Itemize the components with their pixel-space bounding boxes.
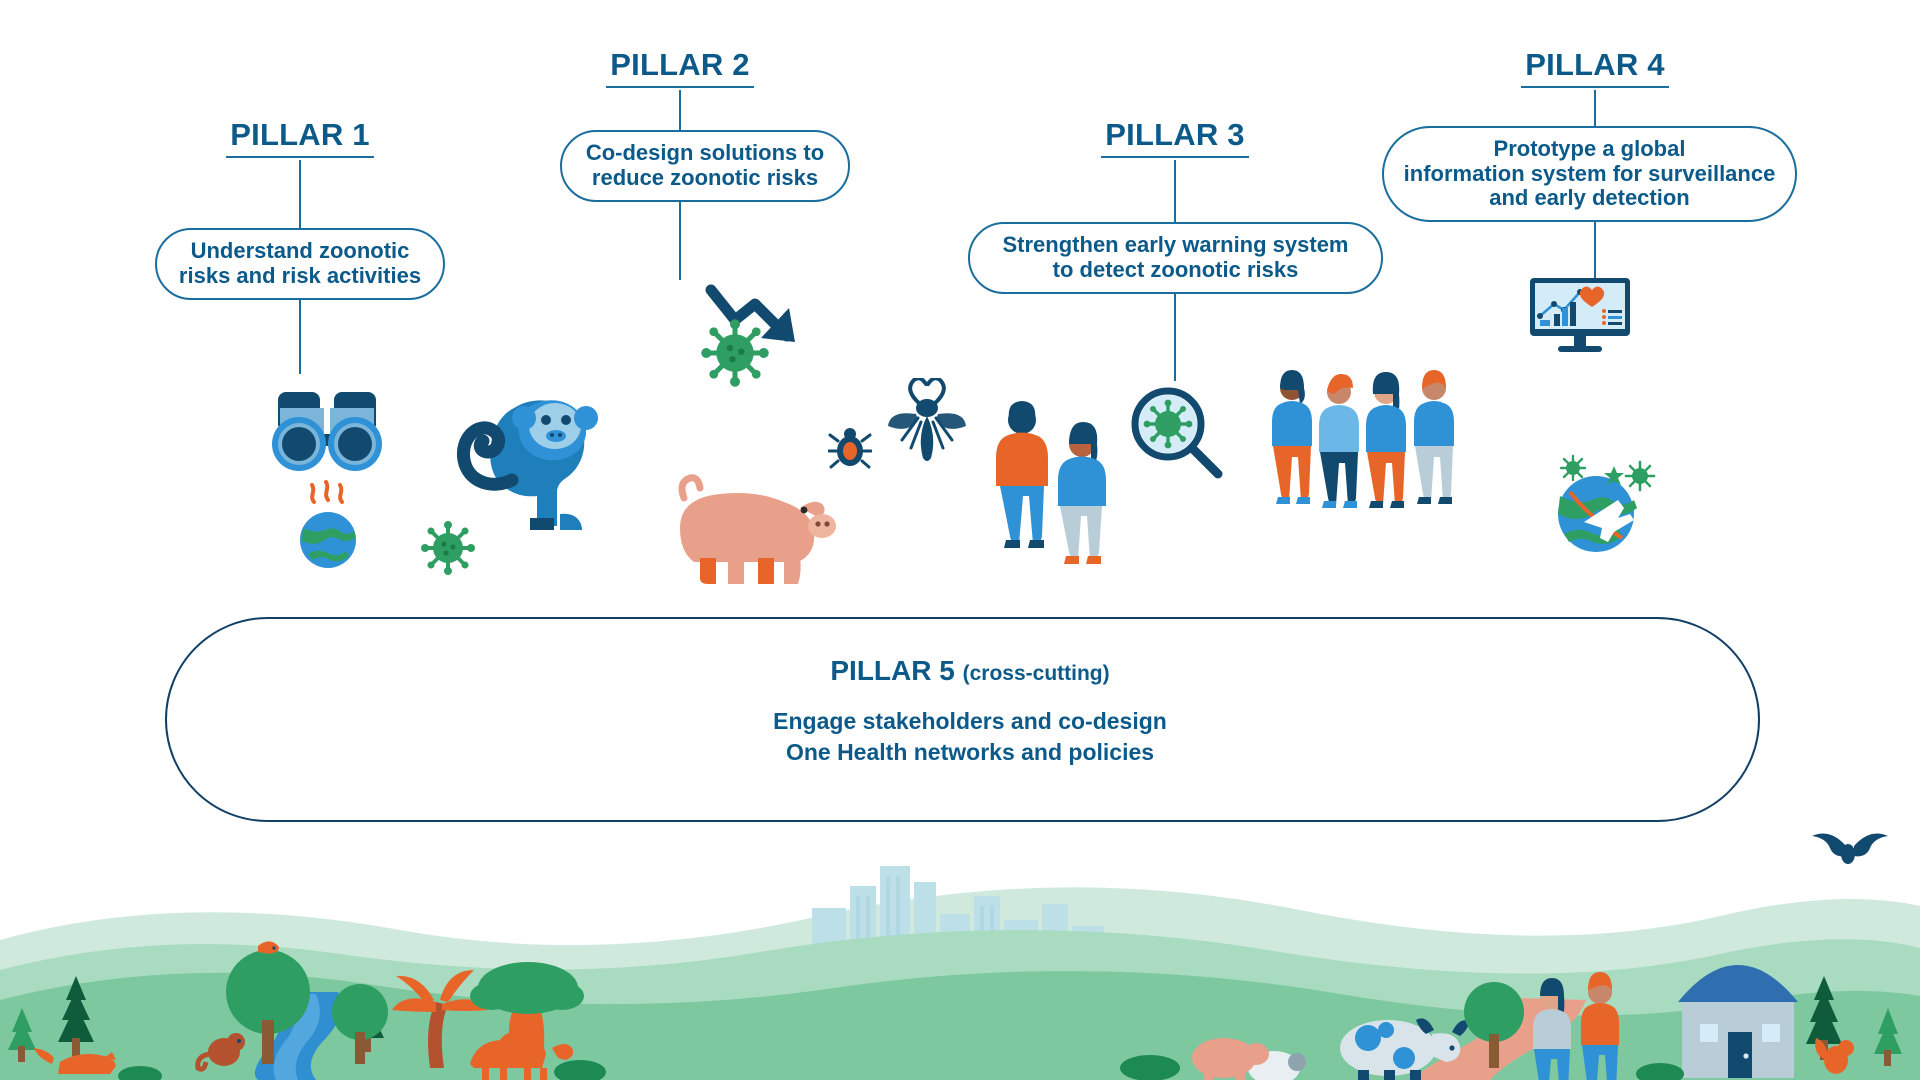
magnifier-virus-icon bbox=[1126, 384, 1224, 482]
pillar-1-heading-label: PILLAR 1 bbox=[185, 118, 415, 152]
pillar-4-heading: PILLAR 4 bbox=[1480, 48, 1710, 88]
pillar-2-box-label: Co-design solutions to reduce zoonotic r… bbox=[568, 141, 842, 190]
pillar-4-box[interactable]: Prototype a global information system fo… bbox=[1382, 126, 1797, 222]
people-group-icon bbox=[1268, 370, 1458, 540]
virus-icon bbox=[700, 318, 770, 388]
pillar-1-connector-top bbox=[299, 160, 301, 235]
pillar-2-connector-bottom bbox=[679, 201, 681, 280]
pillar-2-heading-rule bbox=[606, 86, 754, 88]
one-health-landscape bbox=[0, 820, 1920, 1080]
pillar-1-box-label: Understand zoonotic risks and risk activ… bbox=[161, 239, 439, 288]
pillar-2-box[interactable]: Co-design solutions to reduce zoonotic r… bbox=[560, 130, 850, 202]
pillar-5-text-block: PILLAR 5 (cross-cutting) Engage stakehol… bbox=[760, 655, 1180, 768]
globe-travel-icon bbox=[1540, 452, 1660, 562]
pillar-1-connector-bottom bbox=[299, 299, 301, 374]
hot-globe-icon bbox=[288, 480, 370, 572]
pillar-1-heading: PILLAR 1 bbox=[185, 118, 415, 158]
tick-icon bbox=[828, 425, 872, 471]
pillar-5-heading-suffix: (cross-cutting) bbox=[963, 662, 1110, 685]
pillar-4-connector-top bbox=[1594, 90, 1596, 130]
pillar-4-box-label: Prototype a global information system fo… bbox=[1386, 137, 1794, 211]
pillar-4-heading-rule bbox=[1521, 86, 1669, 88]
pillar-5-heading-label: PILLAR 5 bbox=[830, 655, 954, 686]
pillar-3-heading-label: PILLAR 3 bbox=[1060, 118, 1290, 152]
infographic-canvas: PILLAR 1 Understand zoonotic risks and r… bbox=[0, 0, 1920, 1080]
pillar-1-box[interactable]: Understand zoonotic risks and risk activ… bbox=[155, 228, 445, 300]
pillar-4-connector-bottom bbox=[1594, 221, 1596, 281]
binoculars-icon bbox=[268, 382, 386, 474]
pillar-3-box[interactable]: Strengthen early warning system to detec… bbox=[968, 222, 1383, 294]
pillar-3-connector-top bbox=[1174, 160, 1176, 228]
pig-icon bbox=[640, 470, 840, 595]
pillar-3-heading: PILLAR 3 bbox=[1060, 118, 1290, 158]
pillar-3-heading-rule bbox=[1101, 156, 1249, 158]
pillar-1-heading-rule bbox=[226, 156, 374, 158]
dashboard-monitor-icon bbox=[1528, 276, 1640, 354]
two-people-icon bbox=[982, 400, 1122, 580]
pillar-3-box-label: Strengthen early warning system to detec… bbox=[985, 233, 1367, 282]
pillar-2-heading: PILLAR 2 bbox=[565, 48, 795, 88]
pillar-3-connector-bottom bbox=[1174, 293, 1176, 381]
monkey-icon bbox=[452, 372, 617, 537]
pillar-2-heading-label: PILLAR 2 bbox=[565, 48, 795, 82]
mosquito-icon bbox=[886, 378, 968, 462]
pillar-4-heading-label: PILLAR 4 bbox=[1480, 48, 1710, 82]
pillar-5-heading: PILLAR 5 (cross-cutting) bbox=[760, 655, 1180, 690]
pillar-5-body-label: Engage stakeholders and co-design One He… bbox=[760, 706, 1180, 768]
